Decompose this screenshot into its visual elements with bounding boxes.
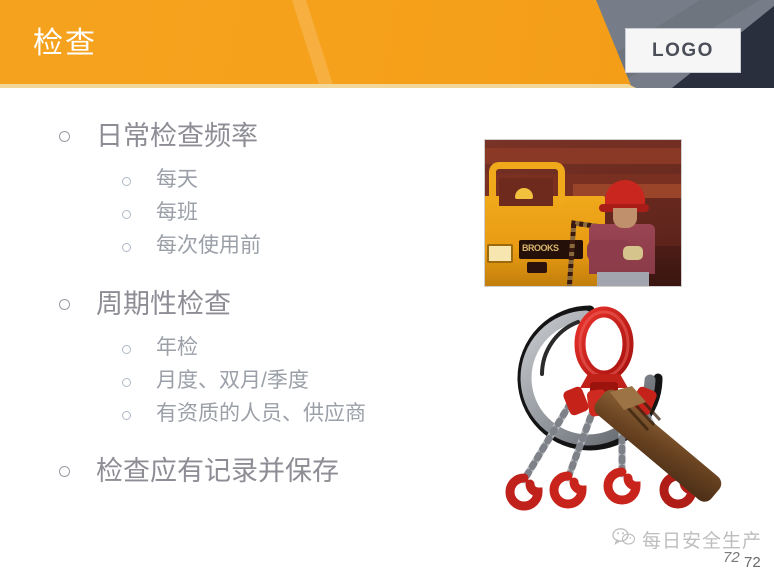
bullet-level2-label: 每天 xyxy=(156,164,198,196)
bullet-circle-icon xyxy=(59,131,70,142)
bullet-circle-icon xyxy=(122,210,131,219)
photo-vent xyxy=(527,262,547,273)
logo-label: LOGO xyxy=(652,40,714,62)
bullet-circle-icon xyxy=(122,177,131,186)
photo-worker-face xyxy=(613,208,637,228)
bullet-group-3: 检查应有记录并保存 xyxy=(0,451,470,491)
bullet-level2: 每次使用前 xyxy=(0,230,470,263)
page-title: 检查 xyxy=(33,29,97,59)
slide-header: 检查 LOGO xyxy=(0,0,774,88)
bullet-level2-label: 每次使用前 xyxy=(156,230,261,262)
sub-list-1: 每天 每班 每次使用前 xyxy=(0,164,470,263)
magnifier-chain-sling-illustration xyxy=(482,292,762,532)
bullet-circle-icon xyxy=(59,299,70,310)
sub-list-2: 年检 月度、双月/季度 有资质的人员、供应商 xyxy=(0,332,470,431)
bullet-group-2: 周期性检查 年检 月度、双月/季度 有资质的人员、供应商 xyxy=(0,284,470,431)
watermark-label: 每日安全生产 xyxy=(642,526,762,553)
bullet-level2: 月度、双月/季度 xyxy=(0,365,470,398)
photo-background-worker-helmet xyxy=(515,188,533,199)
bullet-level2: 年检 xyxy=(0,332,470,365)
page-number: 72 xyxy=(744,554,761,571)
bullet-level2: 有资质的人员、供应商 xyxy=(0,398,470,431)
bullet-level2: 每天 xyxy=(0,164,470,197)
bullet-circle-icon xyxy=(122,378,131,387)
bullet-level2-label: 每班 xyxy=(156,197,198,229)
bullet-level1: 日常检查频率 xyxy=(0,116,470,156)
bullet-level2-label: 有资质的人员、供应商 xyxy=(156,398,366,430)
slide-canvas: 检查 LOGO 日常检查频率 每天 每班 xyxy=(0,0,774,587)
bullet-level1-label: 日常检查频率 xyxy=(96,117,258,155)
logo-placeholder: LOGO xyxy=(625,28,741,73)
bullet-level1-label: 检查应有记录并保存 xyxy=(96,452,339,490)
bullet-level1: 周期性检查 xyxy=(0,284,470,324)
photo-machine-plate-label: BROOKS xyxy=(522,243,559,253)
worker-inspecting-chain-photo: BROOKS xyxy=(484,139,682,287)
bullet-group-1: 日常检查频率 每天 每班 每次使用前 xyxy=(0,116,470,263)
photo-worker-pants xyxy=(597,272,649,287)
bullet-level2-label: 月度、双月/季度 xyxy=(156,365,309,397)
wechat-icon xyxy=(612,527,636,552)
bullet-circle-icon xyxy=(122,345,131,354)
illustration-svg xyxy=(482,292,762,532)
bullet-level2-label: 年检 xyxy=(156,332,198,364)
bullet-level1-label: 周期性检查 xyxy=(96,285,231,323)
page-number-shadow: 72 xyxy=(723,549,740,566)
bullet-circle-icon xyxy=(122,243,131,252)
content-body: 日常检查频率 每天 每班 每次使用前 周期性 xyxy=(0,88,470,587)
master-link-ring xyxy=(580,312,628,376)
bullet-circle-icon xyxy=(122,411,131,420)
bullet-level1: 检查应有记录并保存 xyxy=(0,451,470,491)
bullet-level2: 每班 xyxy=(0,197,470,230)
photo-worker xyxy=(583,180,659,287)
photo-headlamp xyxy=(487,244,513,263)
sling-hooks xyxy=(510,472,692,506)
photo-worker-glove xyxy=(623,246,643,260)
bullet-circle-icon xyxy=(59,466,70,477)
